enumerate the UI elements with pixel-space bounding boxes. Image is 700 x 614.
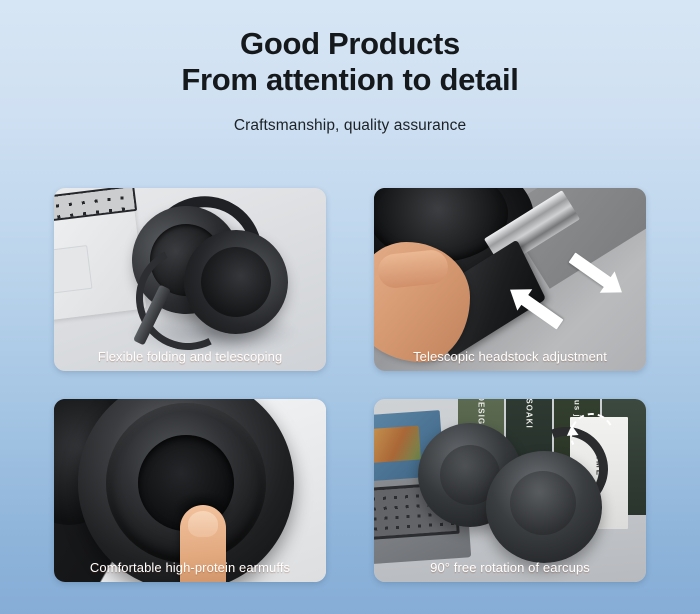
feature-card-grid: Flexible folding and telescoping Telesco… — [54, 188, 646, 586]
card-caption-text: Comfortable high-protein earmuffs — [90, 560, 290, 575]
card-caption-bar: 90° free rotation of earcups — [374, 552, 646, 582]
headline-line-1: Good Products — [240, 26, 460, 61]
headline-line-2: From attention to detail — [0, 62, 700, 98]
card-caption-text: 90° free rotation of earcups — [430, 560, 590, 575]
card-caption-bar: Flexible folding and telescoping — [54, 341, 326, 371]
laptop-trackpad — [54, 245, 92, 295]
feature-card-protein-earmuffs[interactable]: Comfortable high-protein earmuffs — [54, 399, 326, 582]
card-caption-text: Telescopic headstock adjustment — [413, 349, 607, 364]
page-title: Good Products From attention to detail — [0, 26, 700, 98]
fingernail — [188, 511, 218, 537]
card-caption-bar: Comfortable high-protein earmuffs — [54, 552, 326, 582]
page-header: Good Products From attention to detail C… — [0, 0, 700, 135]
feature-card-flexible-folding[interactable]: Flexible folding and telescoping — [54, 188, 326, 371]
feature-card-rotating-earcups[interactable]: DESIGN SOAKI us jut TIME 90° free rotati… — [374, 399, 646, 582]
page-subtitle: Craftsmanship, quality assurance — [0, 117, 700, 135]
book-label: SOAKI — [525, 399, 534, 429]
card-caption-text: Flexible folding and telescoping — [98, 349, 283, 364]
card-caption-bar: Telescopic headstock adjustment — [374, 341, 646, 371]
feature-card-telescopic-headstock[interactable]: Telescopic headstock adjustment — [374, 188, 646, 371]
earcup-rotated — [486, 451, 602, 563]
